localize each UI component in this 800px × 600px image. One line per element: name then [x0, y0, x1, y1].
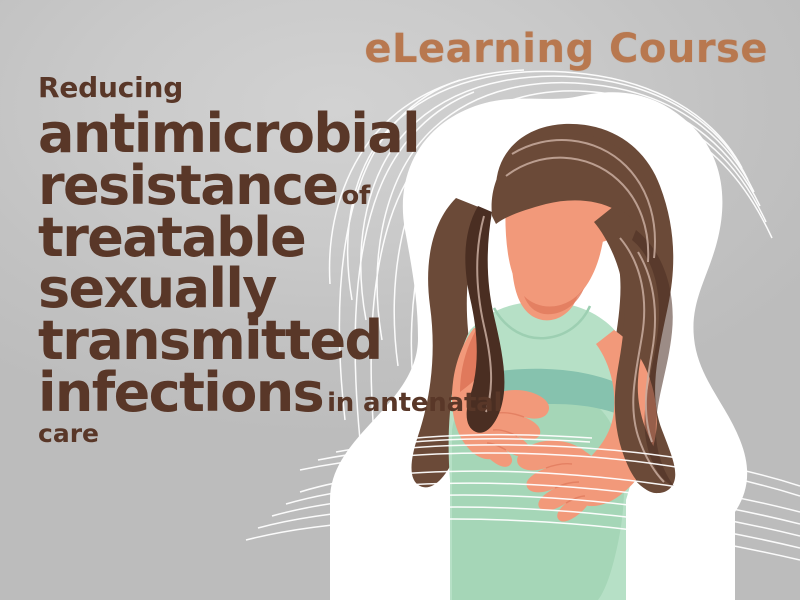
headline-line-3-suffix: of	[341, 181, 370, 211]
headline-line-8: care	[38, 421, 518, 446]
headline-line-4: treatable	[38, 212, 518, 264]
headline-line-3-row: resistance of	[38, 160, 518, 212]
headline-line-2: antimicrobial	[38, 108, 518, 160]
headline-line-5: sexually	[38, 263, 518, 315]
course-kicker: eLearning Course	[364, 26, 768, 72]
elearning-course-poster: eLearning Course Reducing antimicrobial …	[0, 0, 800, 600]
headline-line-7-suffix: in antenatal	[327, 388, 502, 418]
page-title: Reducing antimicrobial resistance of tre…	[38, 74, 518, 446]
headline-line-6: transmitted	[38, 315, 518, 367]
headline-line-7: infections	[38, 367, 323, 419]
headline-line-3: resistance	[38, 160, 337, 212]
headline-line-1: Reducing	[38, 74, 518, 102]
headline-line-7-row: infections in antenatal	[38, 367, 518, 419]
